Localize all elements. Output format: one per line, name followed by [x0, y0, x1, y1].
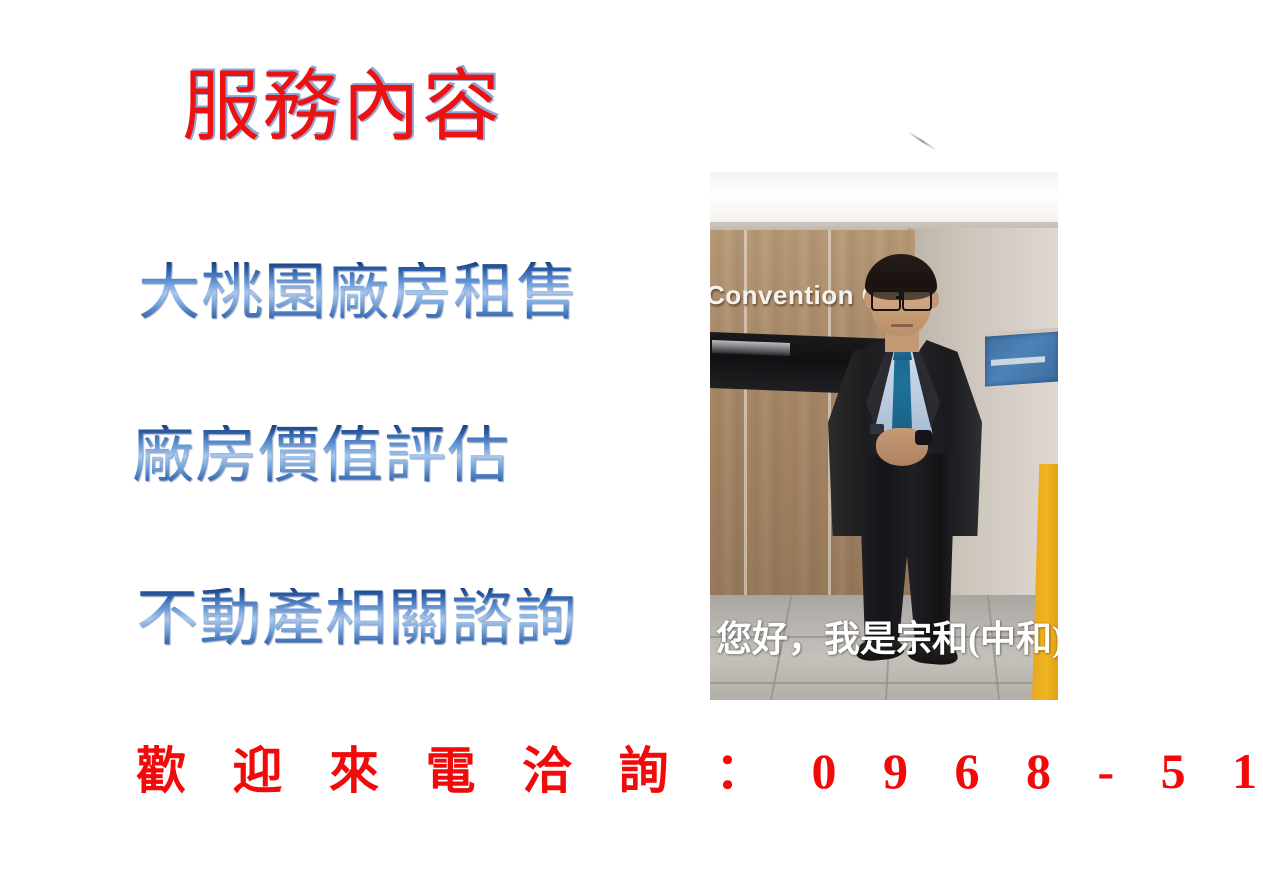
photo-caption: 您好，我是宗和(中和): [716, 610, 1058, 662]
page-title: 服務內容: [182, 68, 502, 146]
slide-canvas: 服務內容 大桃園廠房租售 廠房價值評估 不動產相關諮詢 Convention C…: [0, 0, 1263, 891]
service-item-1: 大桃園廠房租售: [138, 262, 579, 324]
person-glasses-right-lens: [902, 290, 932, 311]
person-glasses-bridge: [896, 296, 904, 299]
person-wristwatch: [915, 430, 932, 445]
photo-floor-grout: [710, 682, 1058, 684]
person-glasses-left-lens: [871, 290, 901, 311]
service-item-3: 不動產相關諮詢: [136, 588, 577, 650]
scratch-artifact: [907, 131, 937, 151]
contact-phone-line: 歡 迎 來 電 洽 詢 ： 0 9 6 8 - 5 1 9 - 8 8 8: [136, 746, 1263, 796]
person-mouth: [891, 324, 913, 327]
profile-photo: Convention Ce 您好，我是宗: [710, 172, 1058, 700]
service-item-2: 廠房價值評估: [132, 425, 510, 487]
